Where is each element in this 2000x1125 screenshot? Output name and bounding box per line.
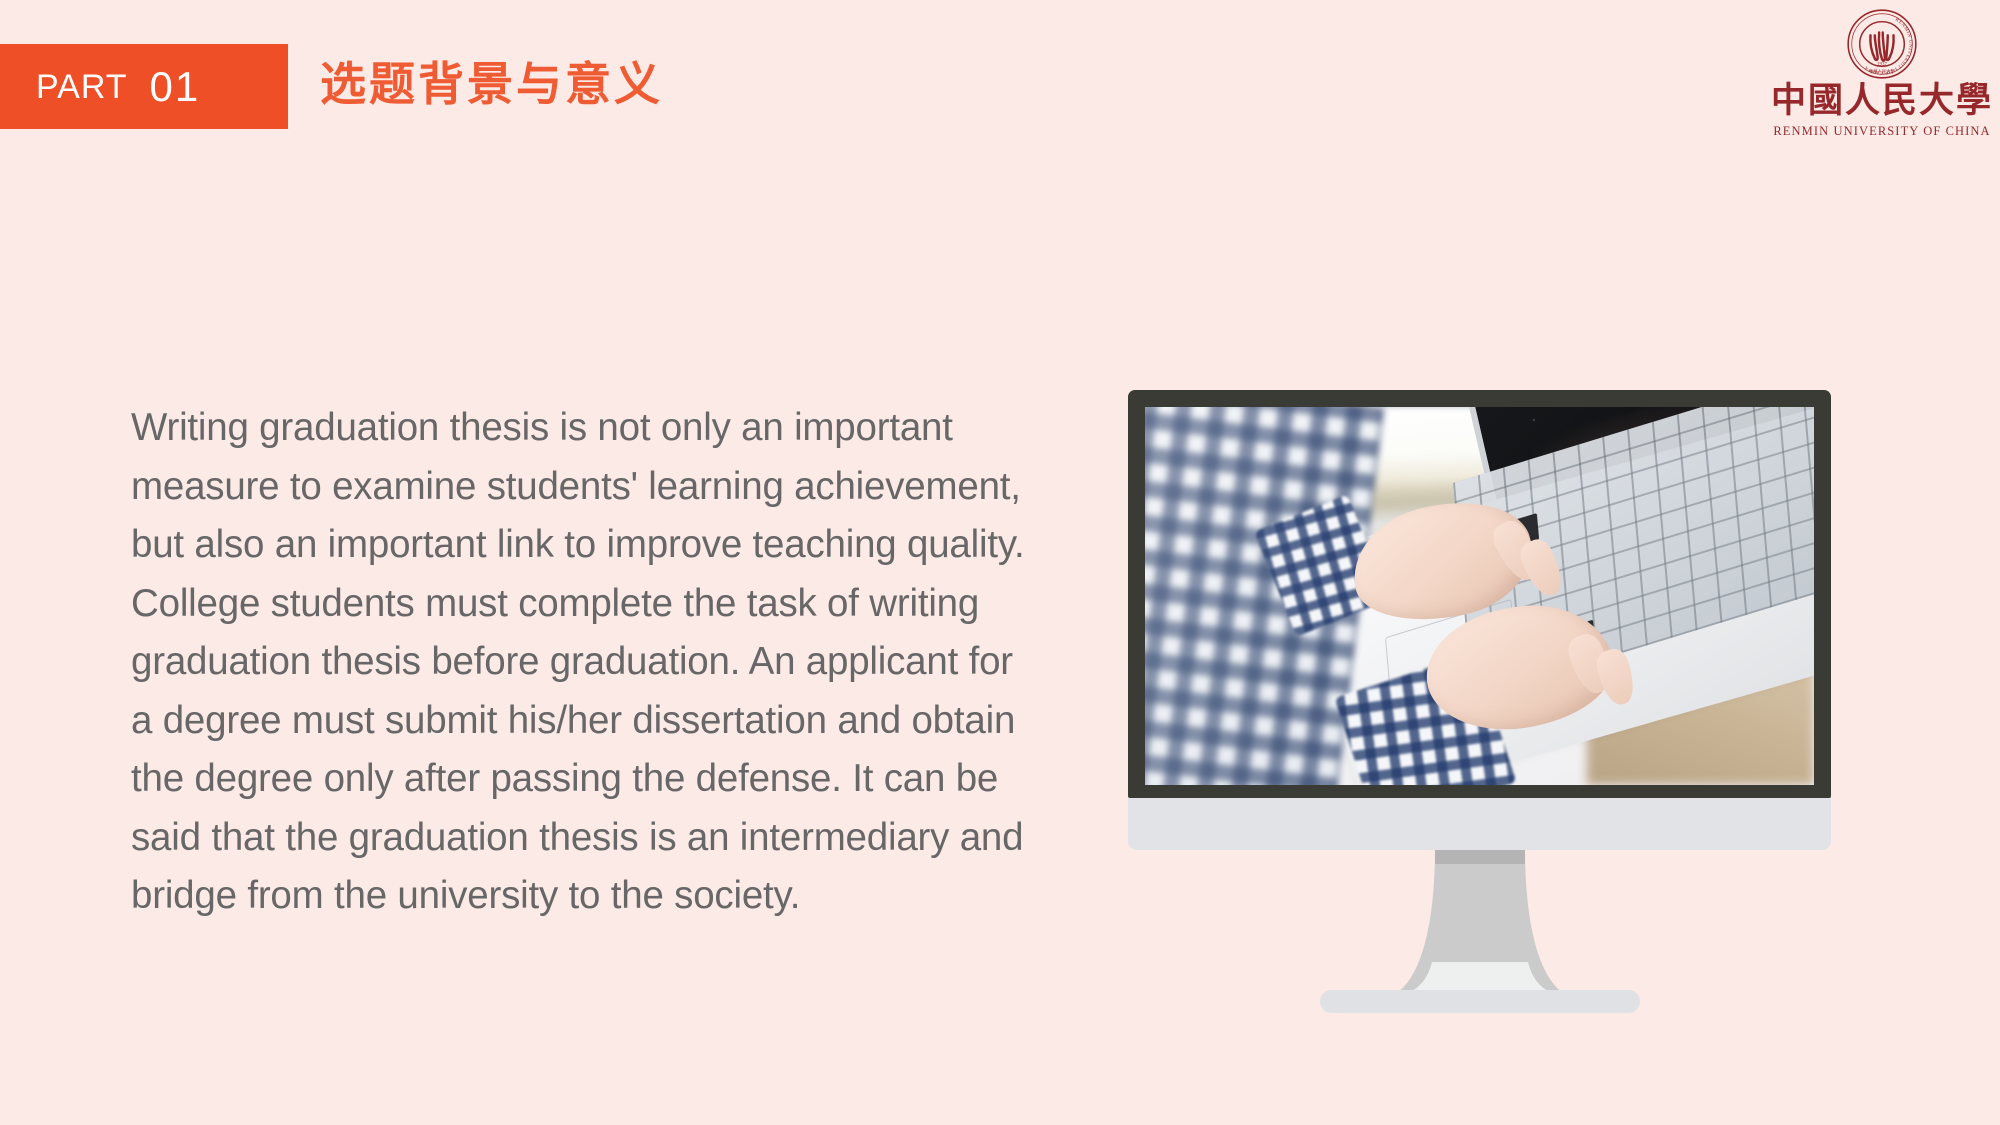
part-number: 01 xyxy=(150,66,201,108)
slide-header: PART 01 选题背景与意义 1937 中華人民大學 RENMIN UNIVE… xyxy=(0,0,2000,170)
part-badge: PART 01 xyxy=(0,44,288,129)
university-logo: 1937 中華人民大學 RENMIN UNIVERSITY OF CHINA 中… xyxy=(1792,8,1972,156)
university-emblem-icon: 1937 中華人民大學 RENMIN UNIVERSITY OF CHINA xyxy=(1846,8,1918,80)
university-name-english: RENMIN UNIVERSITY OF CHINA xyxy=(1773,124,1990,139)
part-label: PART xyxy=(36,70,128,104)
page-title: 选题背景与意义 xyxy=(320,48,663,120)
body-paragraph: Writing graduation thesis is not only an… xyxy=(131,399,1031,926)
university-name-chinese: 中國人民大學 xyxy=(1771,82,1993,121)
screen-photo-typing-hands xyxy=(1145,407,1814,785)
monitor-bezel xyxy=(1128,390,1831,798)
monitor-illustration xyxy=(1128,390,1831,850)
monitor-stand-foot xyxy=(1320,990,1640,1013)
svg-text:1937: 1937 xyxy=(1877,62,1888,68)
monitor-chin xyxy=(1128,798,1831,850)
monitor-stand-neck xyxy=(1330,850,1630,1000)
monitor-screen xyxy=(1145,407,1814,785)
